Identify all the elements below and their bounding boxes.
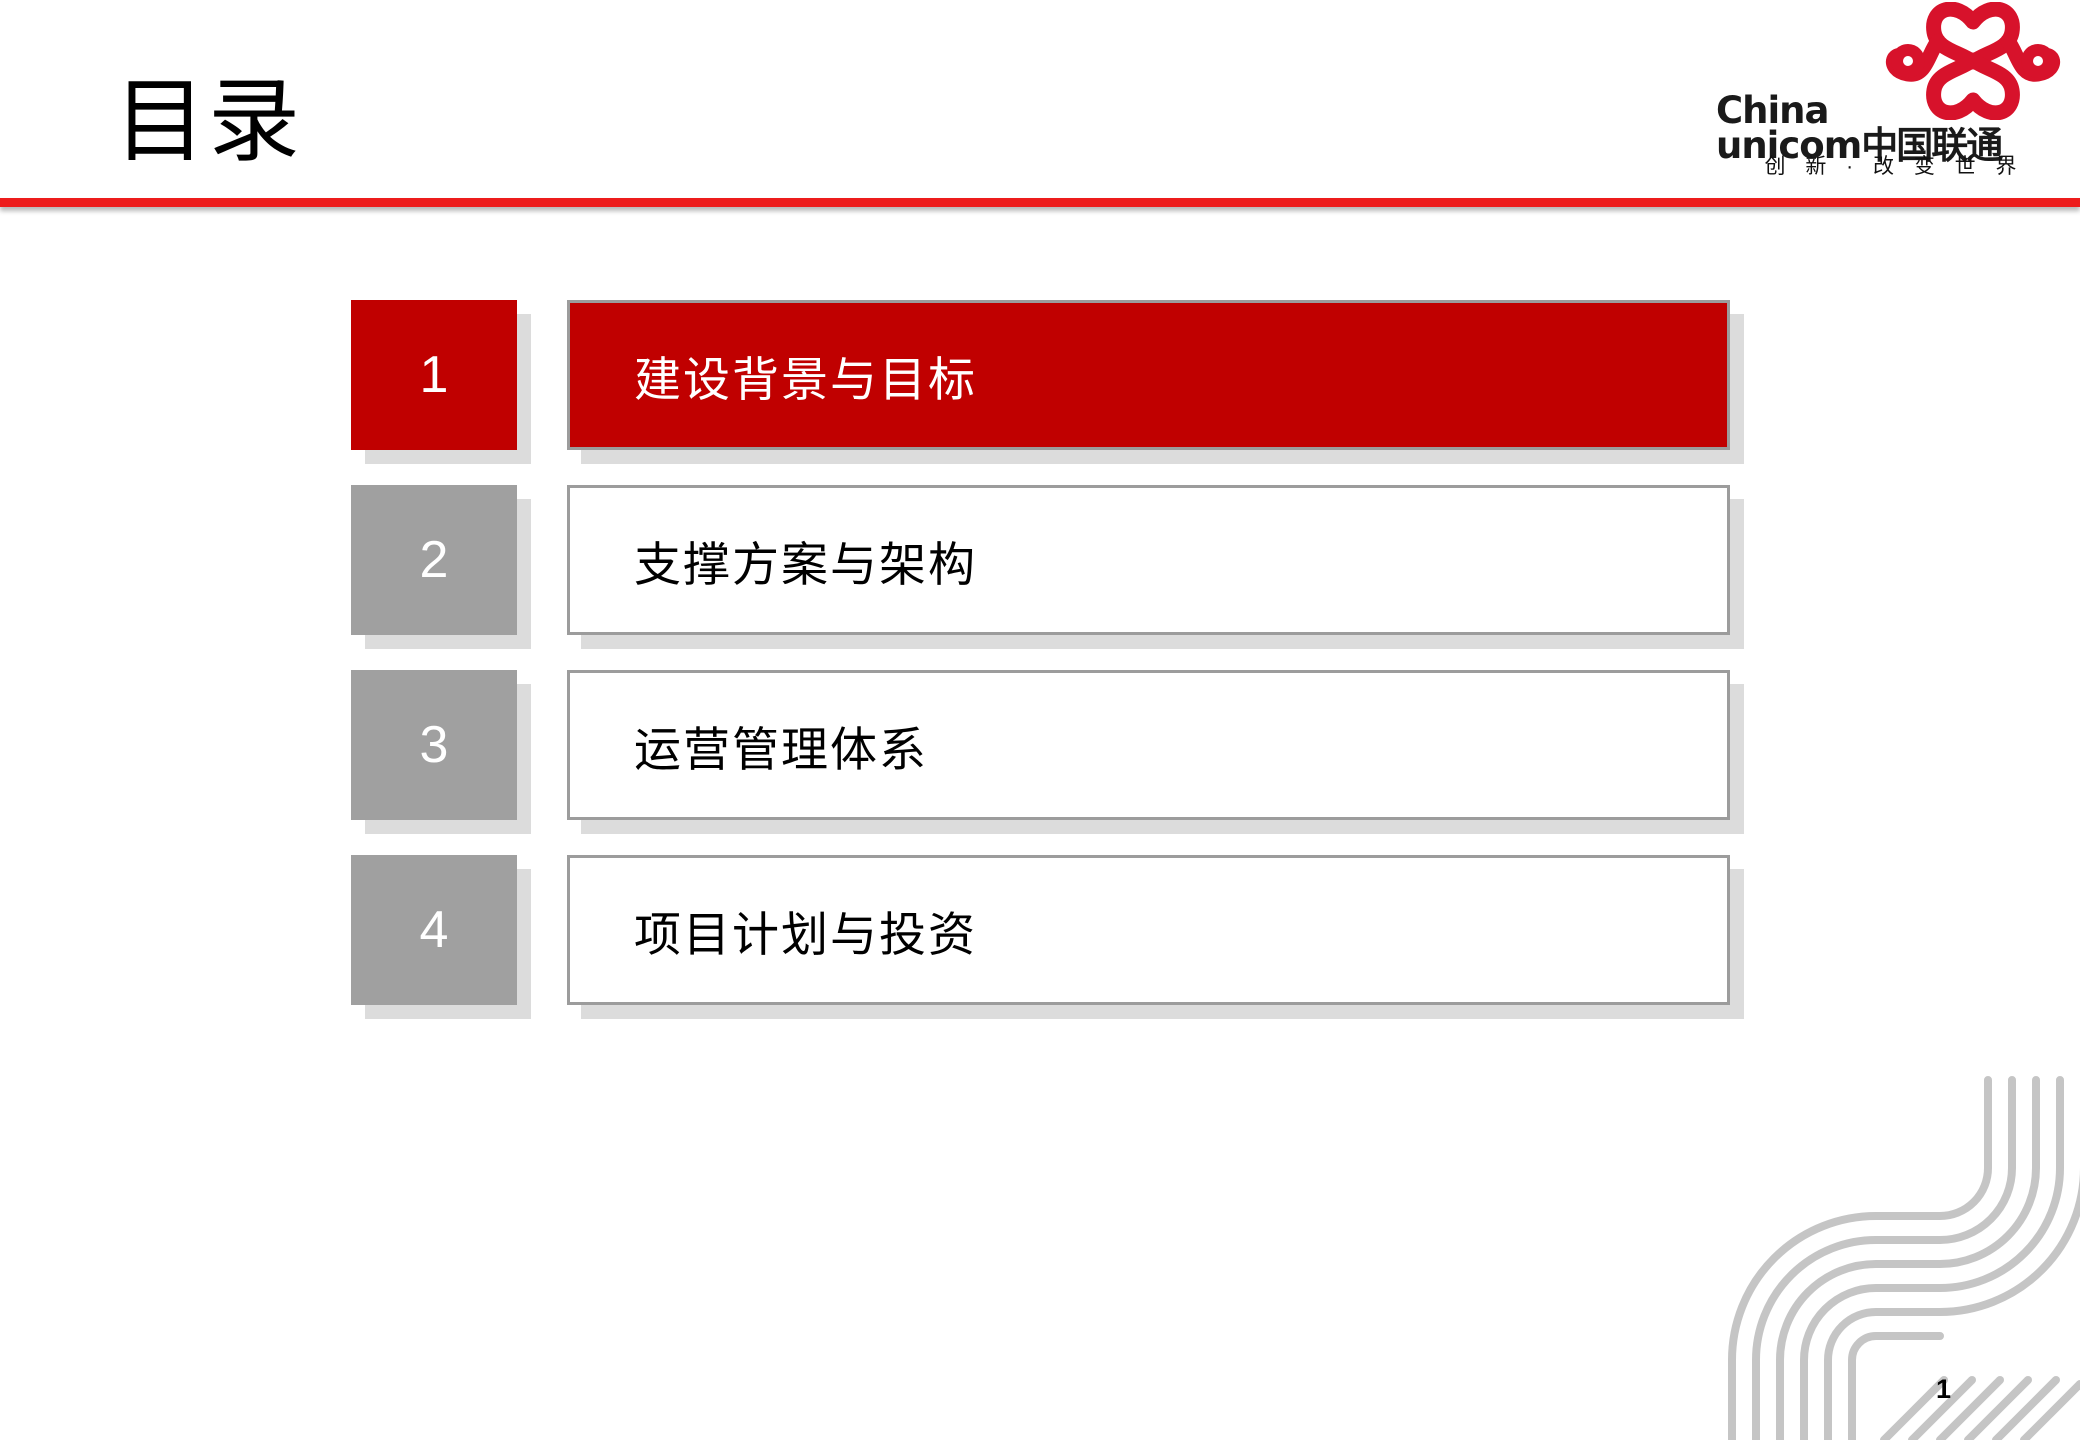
logo-tagline: 创 新 · 改 变 世 界 [1716, 150, 2072, 180]
logo-brand-line1: China [1716, 94, 2072, 128]
slide-canvas: 目录 China [0, 0, 2080, 1440]
toc-item-box[interactable]: 支撑方案与架构 [567, 485, 1730, 635]
toc-item-box[interactable]: 建设背景与目标 [567, 300, 1730, 450]
header-divider-rule [0, 198, 2080, 207]
toc-item-label: 项目计划与投资 [570, 896, 977, 965]
toc-number-box[interactable]: 2 [351, 485, 517, 635]
toc-item-label: 运营管理体系 [570, 711, 928, 780]
toc-number-box[interactable]: 1 [351, 300, 517, 450]
unicom-knot-watermark [1700, 1020, 2080, 1440]
toc-item-label: 建设背景与目标 [570, 341, 977, 410]
toc-item-box[interactable]: 运营管理体系 [567, 670, 1730, 820]
page-title: 目录 [114, 76, 302, 168]
china-unicom-logo: China unicom中国联通 创 新 · 改 变 世 界 [1716, 2, 2072, 180]
toc-number-box[interactable]: 4 [351, 855, 517, 1005]
toc-item-label: 支撑方案与架构 [570, 526, 977, 595]
toc-number-box[interactable]: 3 [351, 670, 517, 820]
page-number: 1 [1936, 1374, 1951, 1405]
toc-item-box[interactable]: 项目计划与投资 [567, 855, 1730, 1005]
